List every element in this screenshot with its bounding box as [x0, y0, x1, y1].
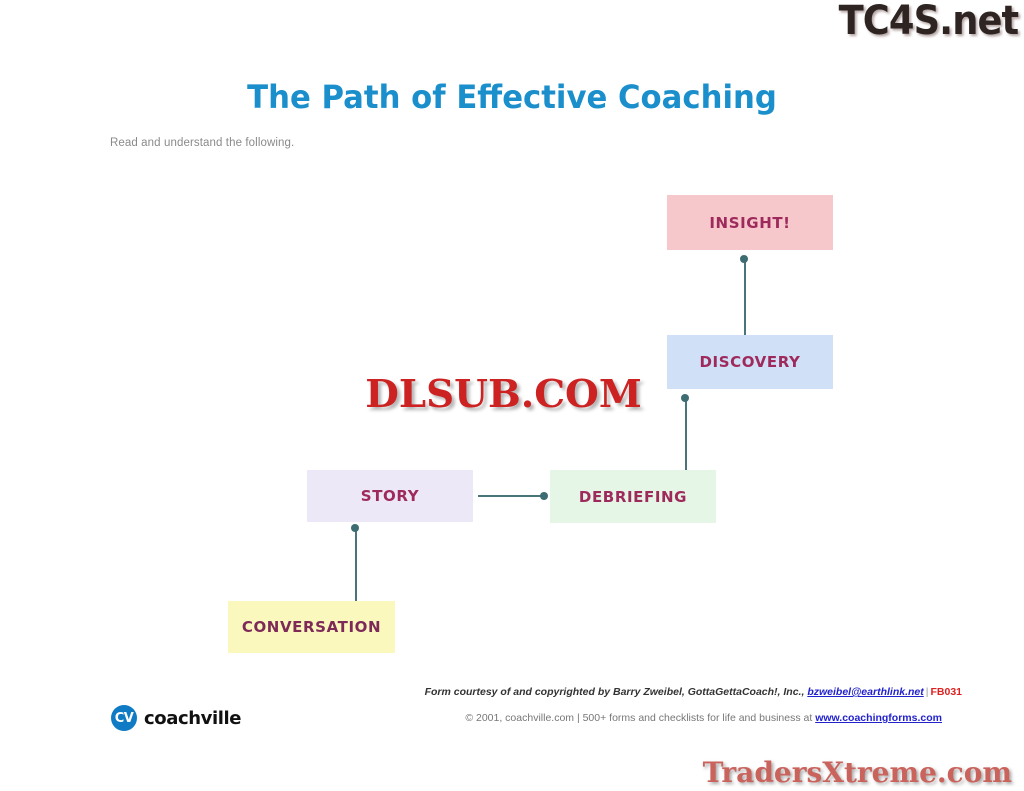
coachville-logo[interactable]: CV coachville: [111, 705, 241, 731]
footer-coachingforms-link[interactable]: www.coachingforms.com: [815, 712, 942, 724]
footer-credit-text: Form courtesy of and copyrighted by Barr…: [425, 686, 805, 698]
coachville-wordmark: coachville: [144, 708, 241, 729]
footer-email-link[interactable]: bzweibel@earthlink.net: [807, 686, 923, 698]
connector-discovery-to-insight: [744, 258, 746, 335]
diagram-node-insight[interactable]: INSIGHT!: [667, 195, 833, 250]
diagram-node-discovery[interactable]: DISCOVERY: [667, 335, 833, 389]
diagram-node-conversation[interactable]: CONVERSATION: [228, 601, 395, 653]
tradersxtreme-watermark: TradersXtreme.com: [703, 756, 1012, 789]
footer-credit: Form courtesy of and copyrighted by Barr…: [0, 686, 1024, 698]
footer-copyright-text: © 2001, coachville.com | 500+ forms and …: [465, 712, 812, 724]
form-code: FB031: [930, 686, 962, 698]
dlsub-watermark: DLSUB.COM: [365, 371, 641, 416]
cv-badge-icon: CV: [111, 705, 137, 731]
diagram-node-debriefing[interactable]: DEBRIEFING: [550, 470, 716, 523]
connector-conversation-to-story: [355, 528, 357, 601]
document-page: TC4S.net The Path of Effective Coaching …: [0, 0, 1024, 791]
connector-dot-debriefing: [540, 492, 548, 500]
connector-dot-discovery: [681, 394, 689, 402]
connector-debriefing-to-discovery: [685, 398, 687, 470]
connector-dot-insight: [740, 255, 748, 263]
connector-story-to-debriefing: [478, 495, 546, 497]
connector-dot-story: [351, 524, 359, 532]
diagram-node-story[interactable]: STORY: [307, 470, 473, 522]
